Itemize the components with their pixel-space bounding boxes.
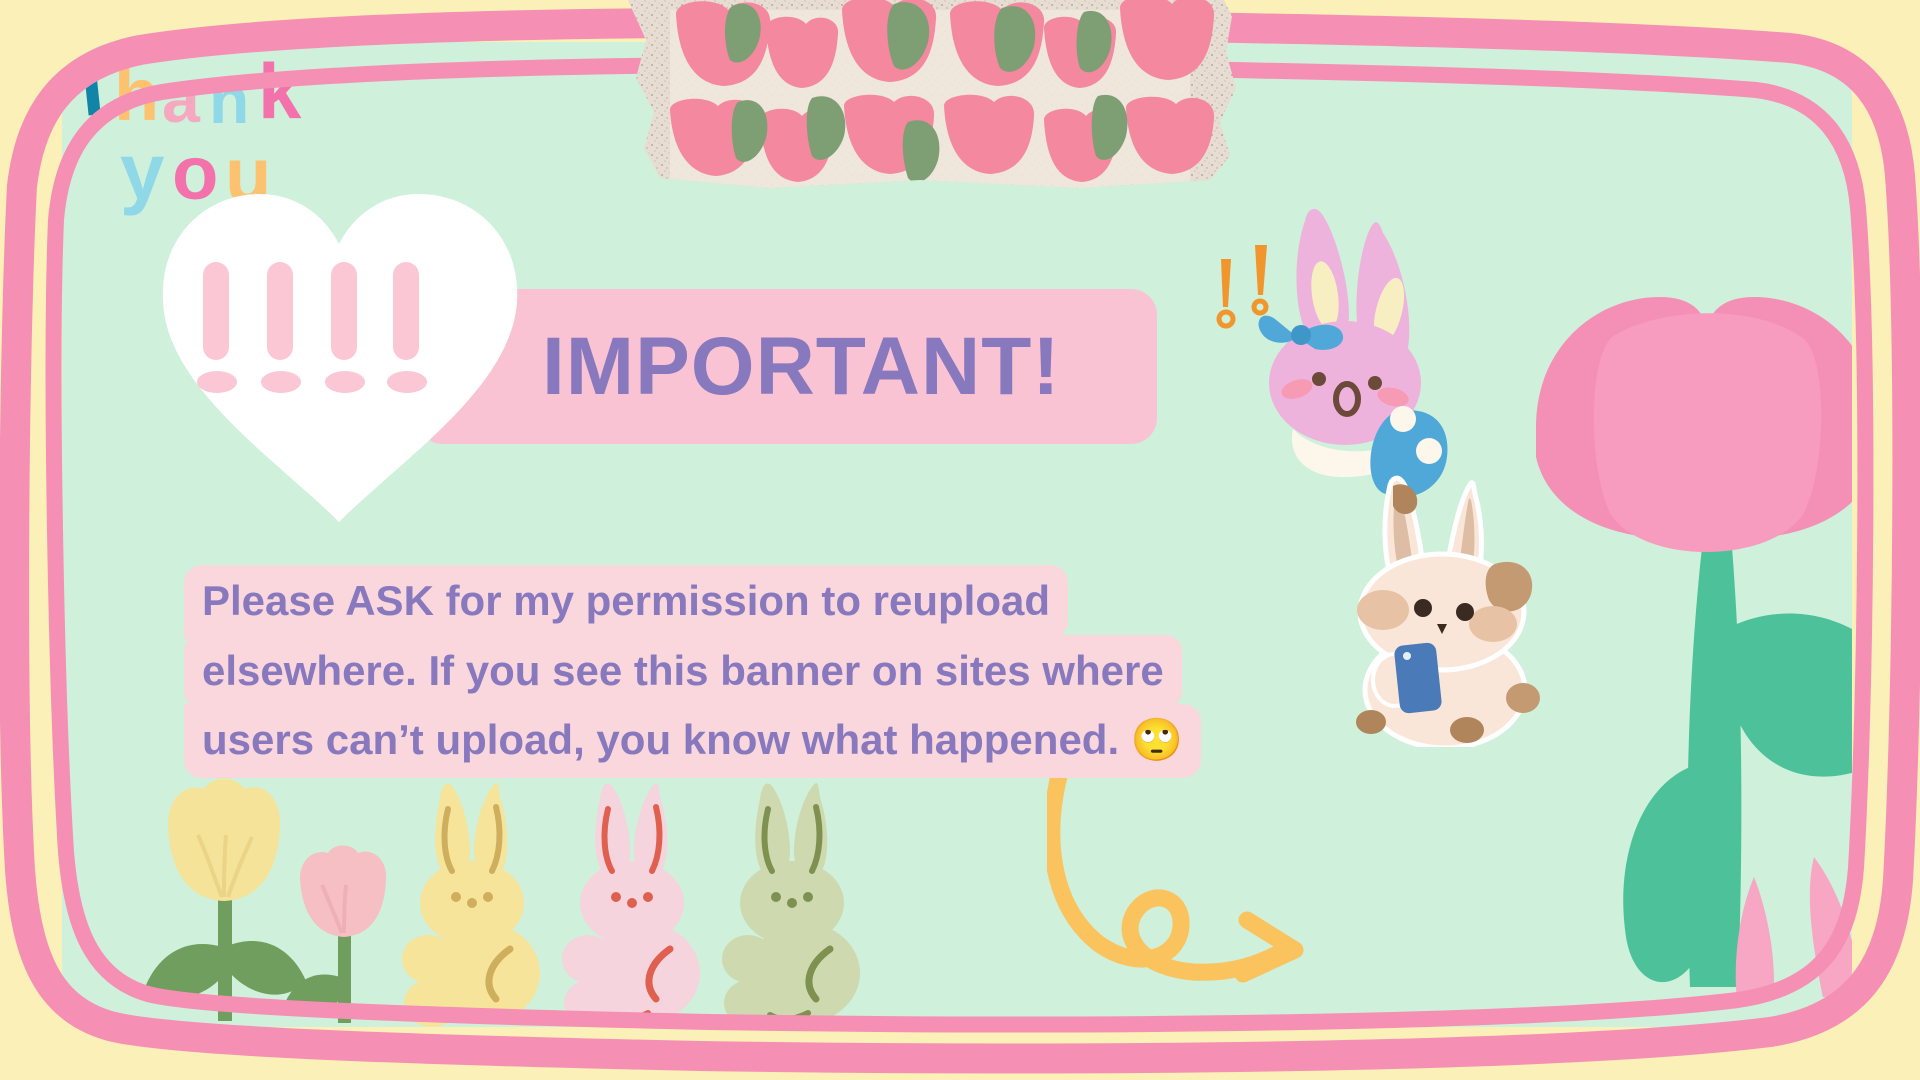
gummy-bunny-yellow <box>402 783 540 1027</box>
body-line-1: Please ASK for my permission to reupload <box>184 565 1068 639</box>
gummy-bunnies-icon <box>392 777 992 1027</box>
bow-icon <box>1259 316 1344 350</box>
thankyou-letter-n: n <box>209 62 249 138</box>
heart-icon <box>157 192 522 522</box>
important-heading-bar: IMPORTANT! <box>417 289 1157 444</box>
page-title: IMPORTANT! <box>542 326 1061 408</box>
body-line-3: users can’t upload, you know what happen… <box>184 704 1201 778</box>
tulip-large-pink-icon <box>1492 297 1852 997</box>
body-text-block: Please ASK for my permission to reupload… <box>184 565 1201 774</box>
arrow-loop-icon <box>1047 772 1322 1002</box>
gummy-bunny-pink <box>562 783 700 1027</box>
exclamation-marks-orange <box>1219 245 1267 326</box>
thankyou-letter-h: h <box>114 52 159 137</box>
important-banner: IMPORTANT! <box>0 0 1920 1080</box>
washi-tape-tulips-icon <box>620 0 1242 210</box>
thankyou-letter-k: k <box>258 46 301 137</box>
bunny-with-phone-icon <box>1337 472 1552 747</box>
gummy-bunny-green <box>722 783 860 1027</box>
body-line-2: elsewhere. If you see this banner on sit… <box>184 635 1182 709</box>
tulips-small-icon <box>142 777 402 1027</box>
thankyou-letter-a: a <box>162 60 200 138</box>
bunny-purple-flying-icon <box>1197 207 1457 507</box>
